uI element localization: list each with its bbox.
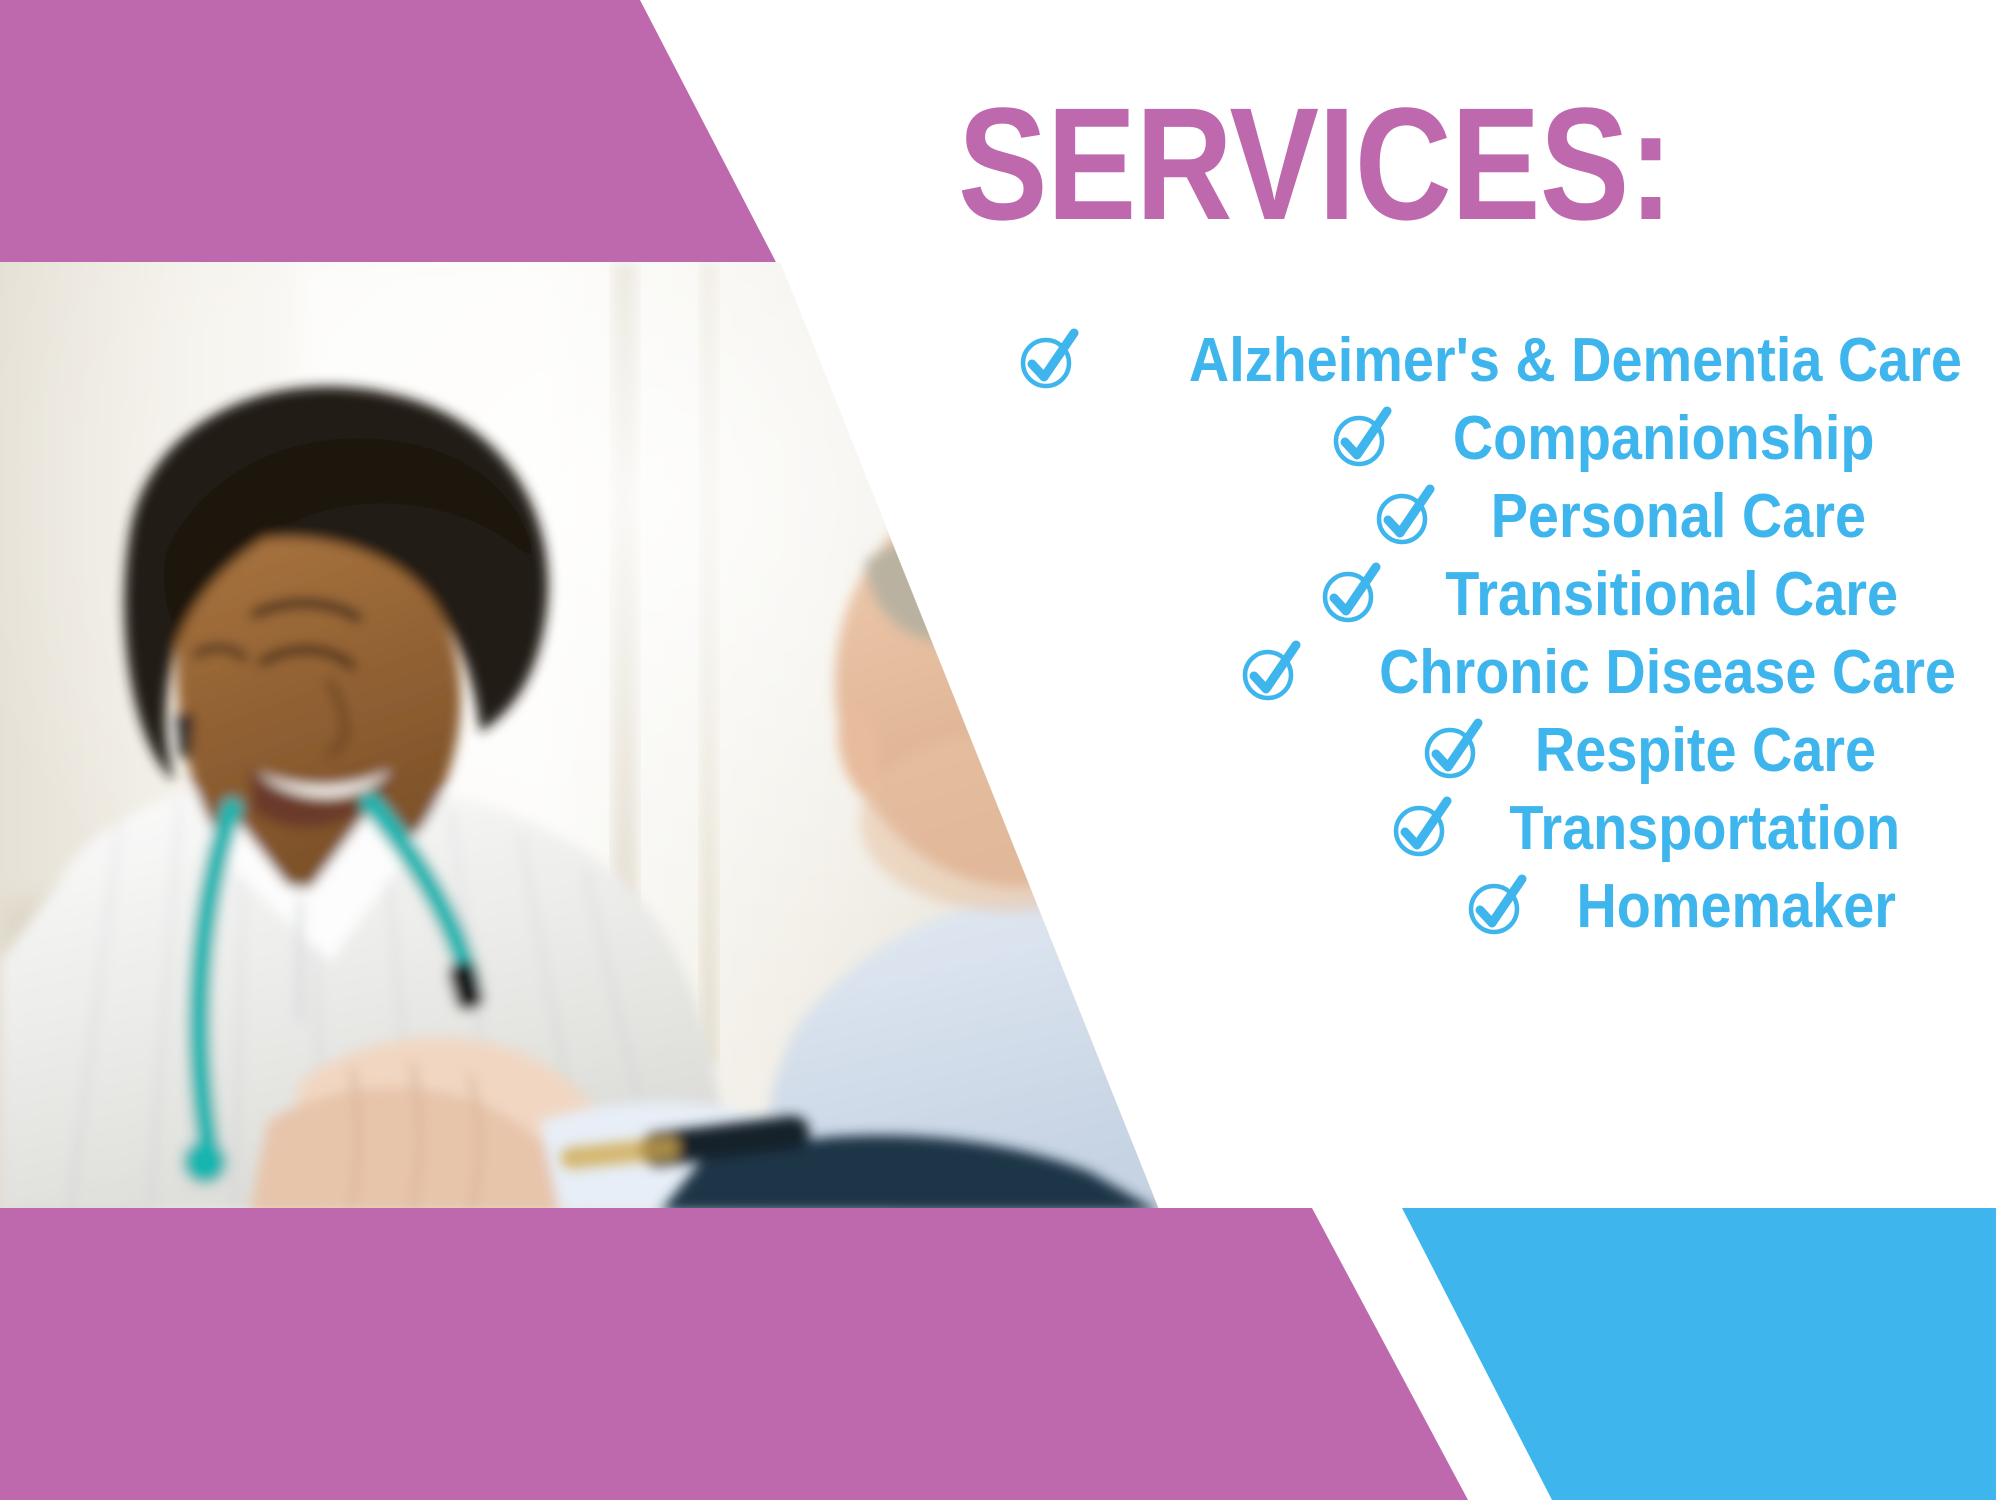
services-list: Alzheimer's & Dementia Care Companionshi… — [802, 322, 1962, 946]
list-item[interactable]: Alzheimer's & Dementia Care — [1017, 322, 1962, 400]
list-item-label: Companionship — [1452, 408, 1874, 470]
circle-check-icon — [1421, 718, 1483, 780]
circle-check-icon — [1465, 874, 1527, 936]
bottom-blue-accent-band — [1380, 1208, 1996, 1500]
list-item[interactable]: Respite Care — [1421, 712, 1876, 790]
list-item[interactable]: Companionship — [1330, 400, 1874, 478]
list-item[interactable]: Transitional Care — [1319, 556, 1898, 634]
list-item-label: Respite Care — [1535, 720, 1876, 782]
page-title: SERVICES: — [958, 84, 1672, 244]
list-item-label: Chronic Disease Care — [1379, 642, 1956, 704]
circle-check-icon — [1390, 796, 1452, 858]
top-purple-band — [0, 0, 800, 266]
list-item[interactable]: Chronic Disease Care — [1239, 634, 1956, 712]
list-item-label: Homemaker — [1577, 876, 1896, 938]
list-item-label: Alzheimer's & Dementia Care — [1189, 330, 1962, 392]
list-item-label: Transportation — [1509, 798, 1900, 860]
circle-check-icon — [1373, 484, 1435, 546]
circle-check-icon — [1017, 328, 1079, 390]
list-item[interactable]: Personal Care — [1373, 478, 1866, 556]
circle-check-icon — [1330, 406, 1392, 468]
circle-check-icon — [1319, 562, 1381, 624]
list-item[interactable]: Homemaker — [1465, 868, 1896, 946]
list-item-label: Personal Care — [1491, 486, 1866, 548]
list-item-label: Transitional Care — [1445, 564, 1898, 626]
bottom-purple-band — [0, 1208, 1500, 1500]
circle-check-icon — [1239, 640, 1301, 702]
list-item[interactable]: Transportation — [1390, 790, 1900, 868]
flyer-canvas: SERVICES: Alzheimer's & Dementia Care Co… — [0, 0, 1996, 1500]
